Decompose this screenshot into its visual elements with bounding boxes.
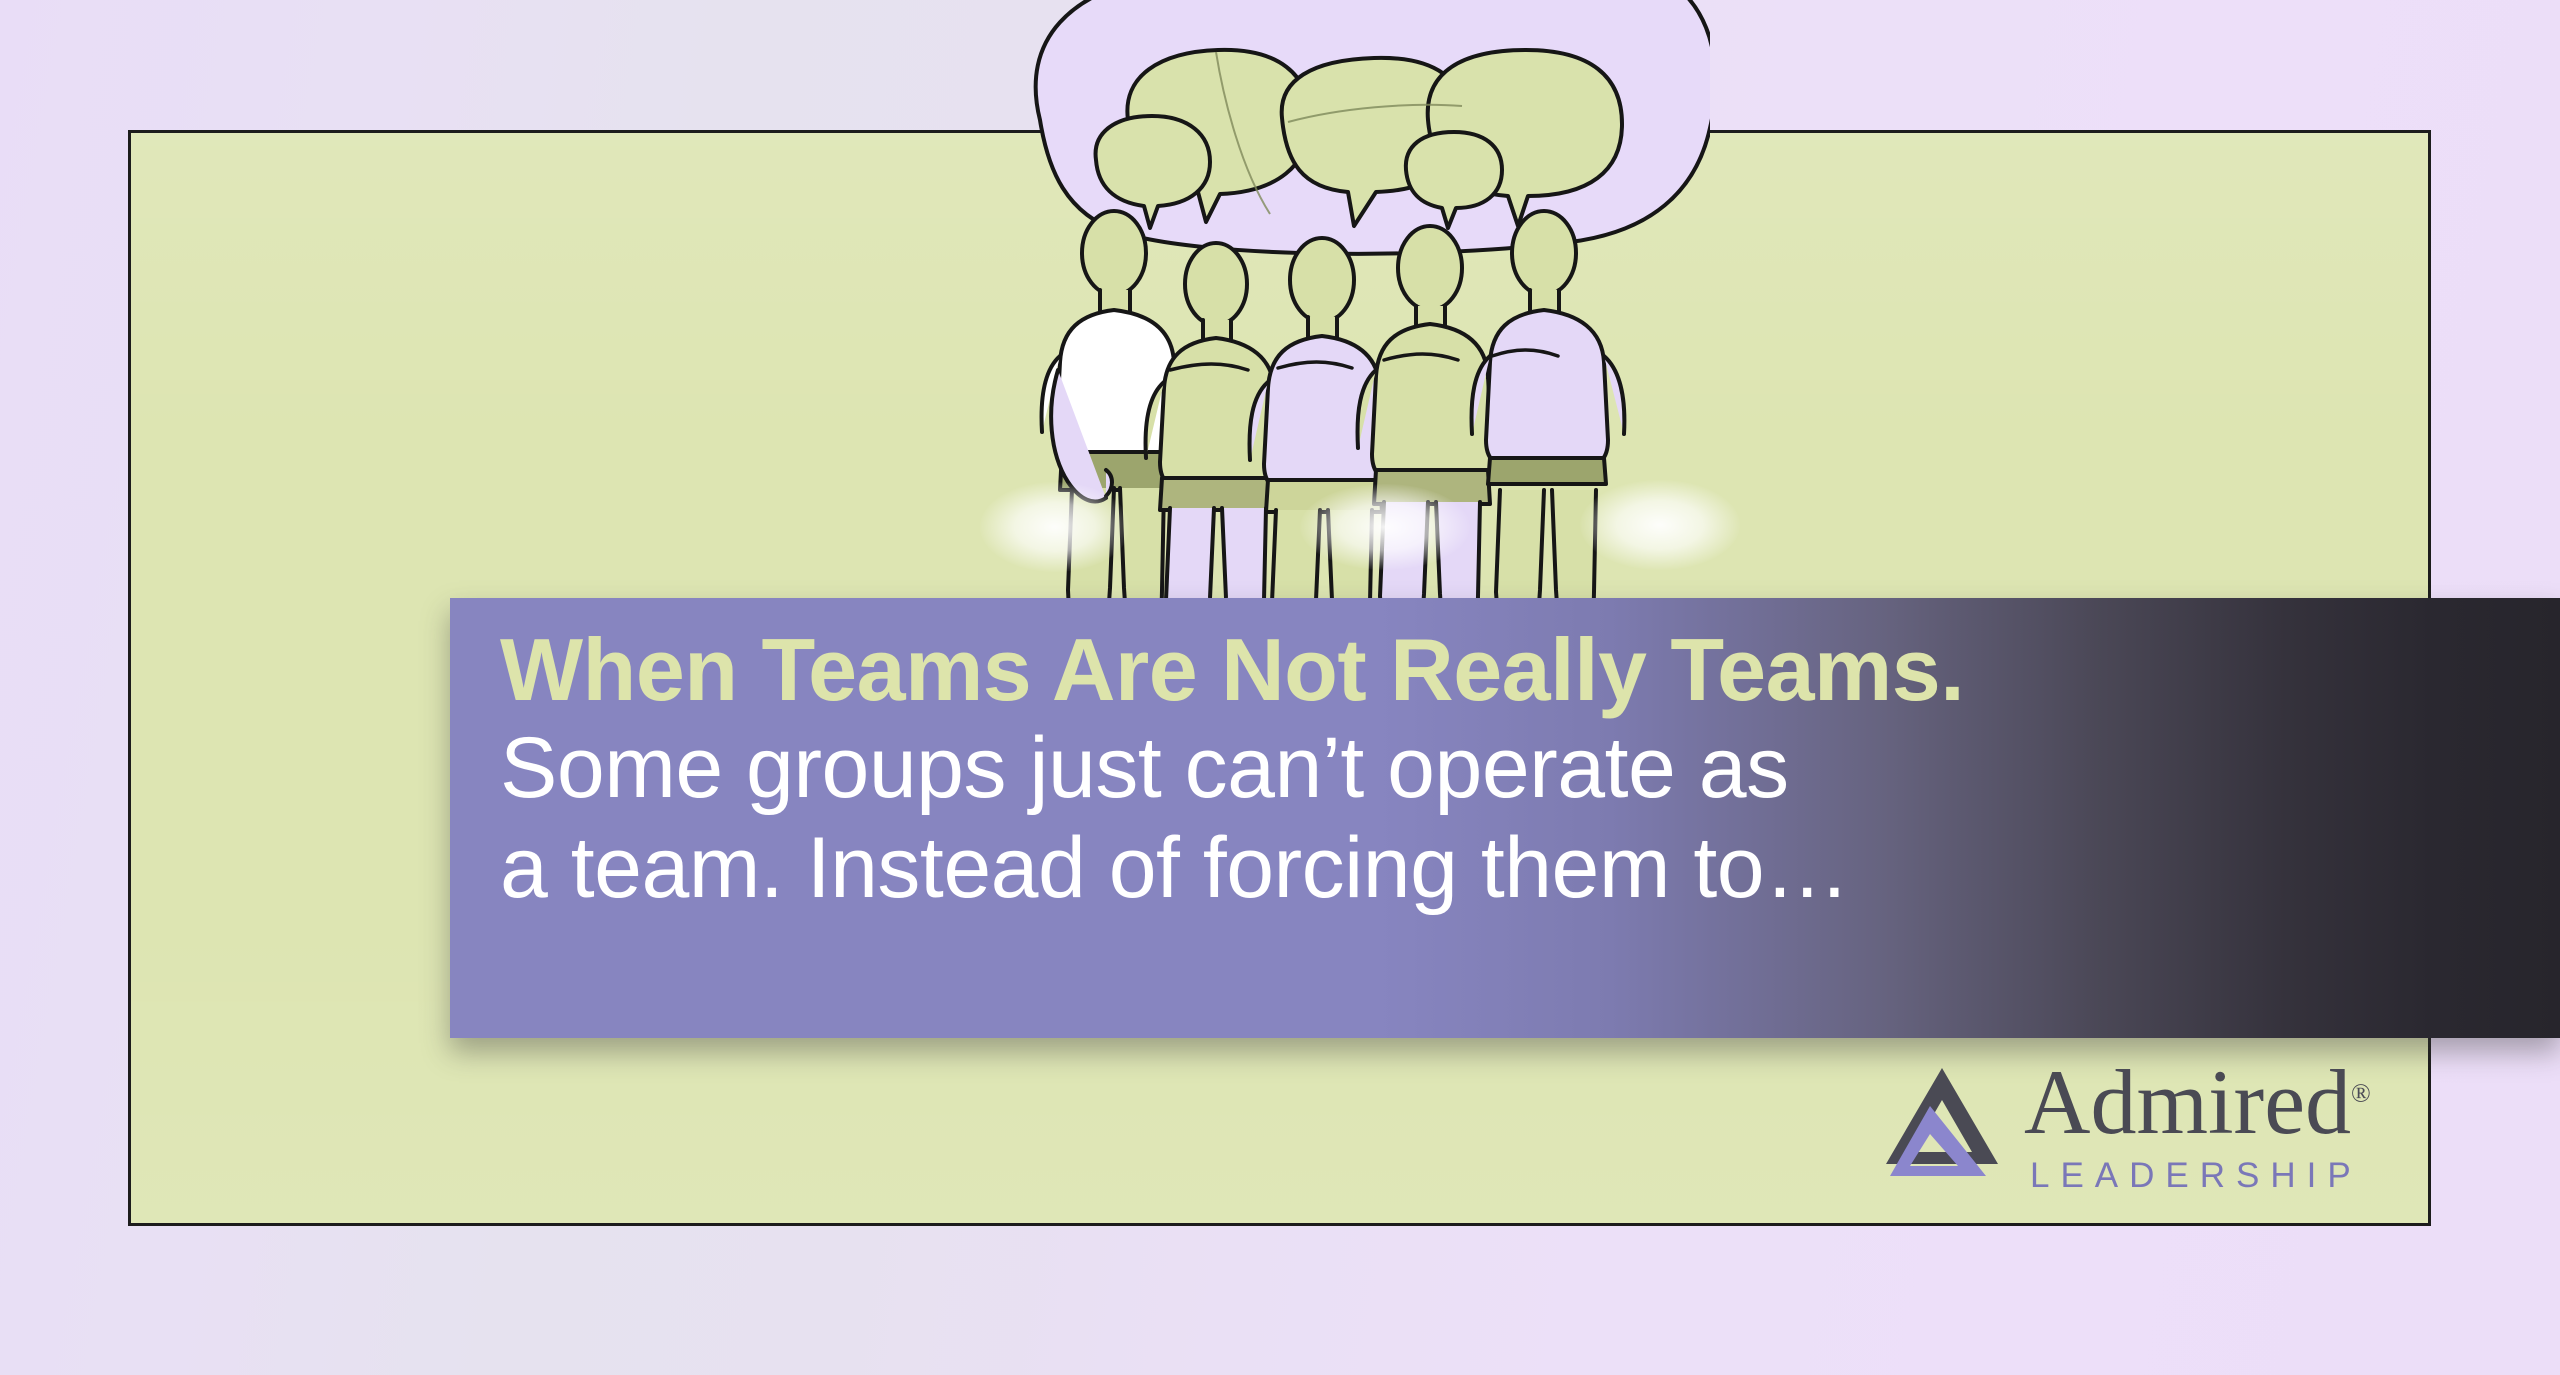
headline-text: When Teams Are Not Really Teams. <box>500 620 2540 719</box>
registered-trademark-icon: ® <box>2351 1078 2371 1107</box>
headline-banner: When Teams Are Not Really Teams. Some gr… <box>450 598 2560 1038</box>
subline-text-1: Some groups just can’t operate as <box>500 719 2540 819</box>
triangle-logo-icon <box>1880 1062 2008 1180</box>
subline-text-2: a team. Instead of forcing them to… <box>500 819 2540 919</box>
team-illustration <box>1010 0 1710 630</box>
banner-text-block: When Teams Are Not Really Teams. Some gr… <box>500 620 2540 919</box>
logo-wordmark-block: Admired® LEADERSHIP <box>2024 1058 2371 1196</box>
admired-leadership-logo: Admired® LEADERSHIP <box>1880 1058 2400 1210</box>
poster-canvas: When Teams Are Not Really Teams. Some gr… <box>0 0 2560 1375</box>
logo-wordmark: Admired® <box>2024 1058 2371 1146</box>
logo-wordmark-text: Admired <box>2024 1051 2351 1153</box>
logo-tagline: LEADERSHIP <box>2030 1156 2362 1196</box>
